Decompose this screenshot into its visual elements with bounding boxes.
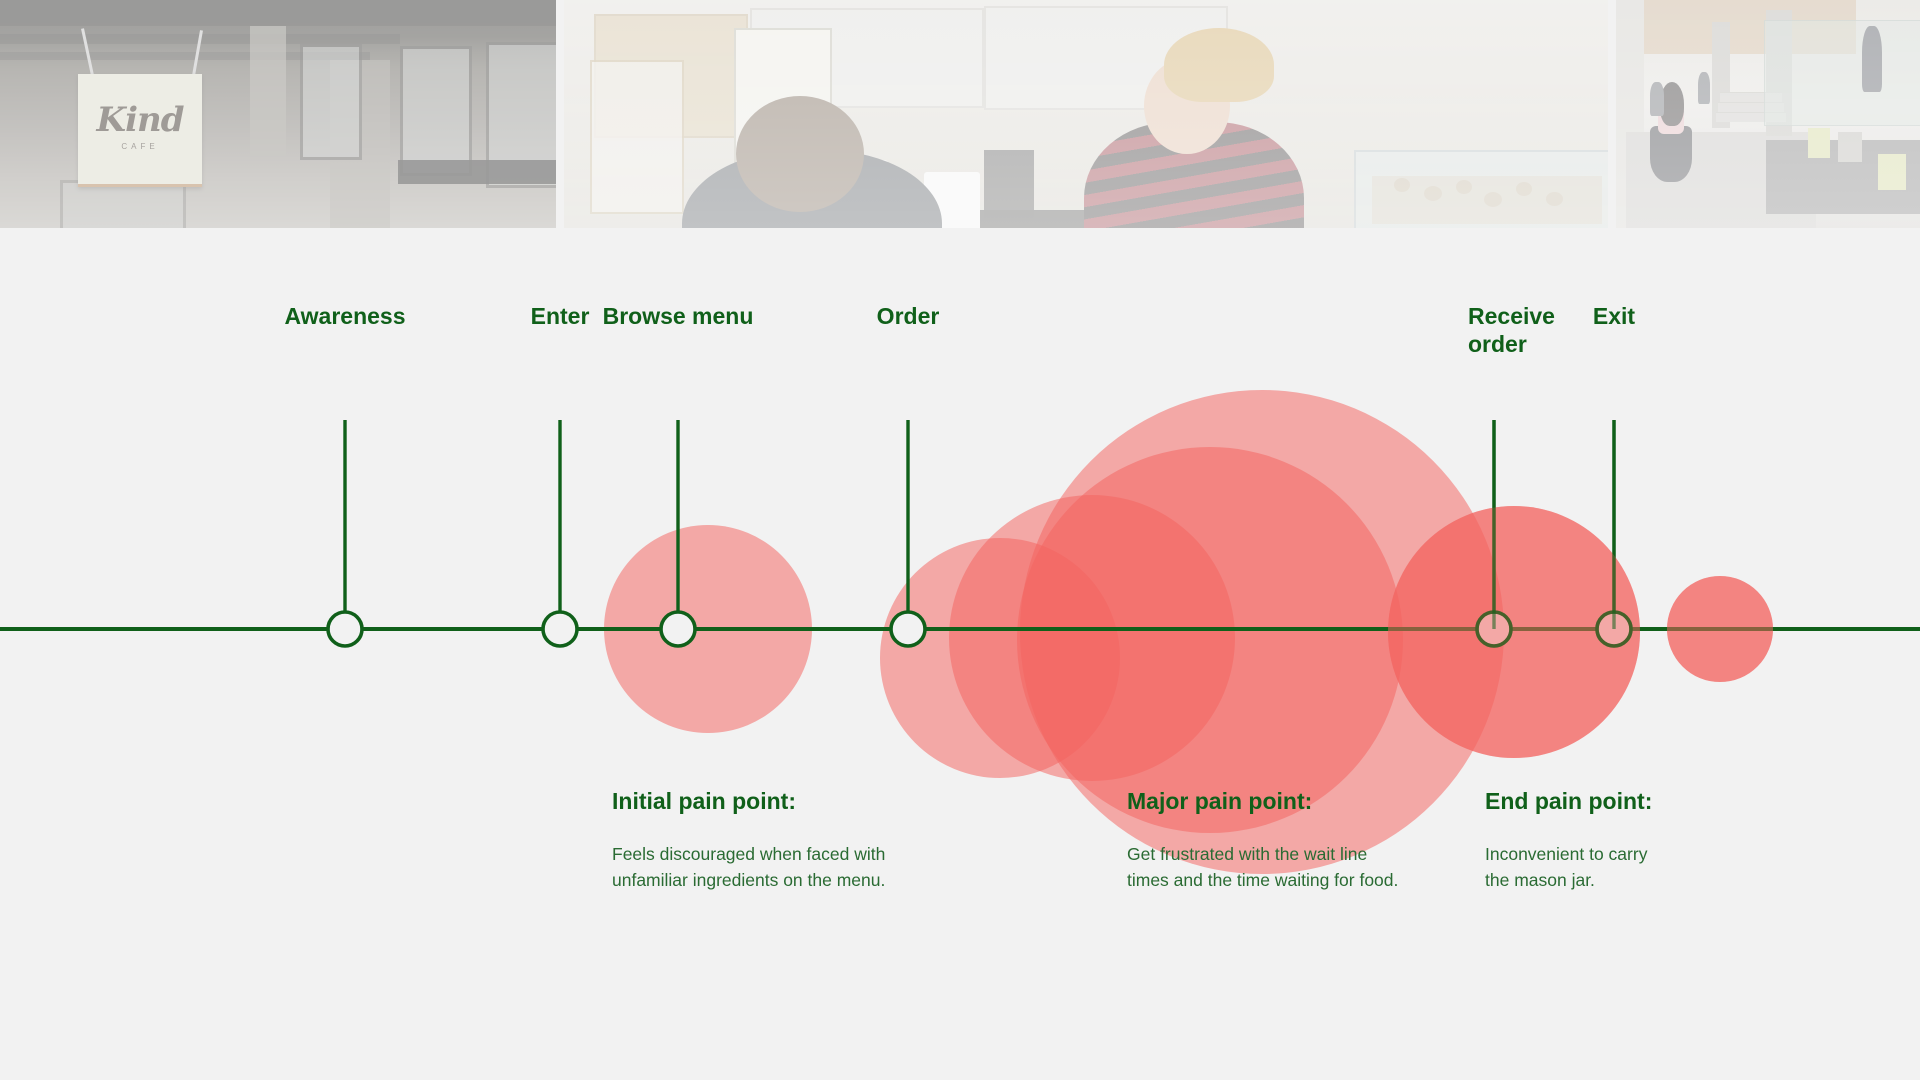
photo-strip: Kind CAFE	[0, 0, 1920, 228]
pain-blob-overlay-layer	[1388, 506, 1773, 758]
stage-node-browse-menu[interactable]	[661, 612, 695, 646]
kind-cafe-sign: Kind CAFE	[78, 74, 202, 187]
photo-gap	[556, 0, 564, 228]
end-pain-point-title: End pain point:	[1485, 788, 1652, 815]
stage-label-exit[interactable]: Exit	[1593, 302, 1635, 330]
initial-pain-point-body: Feels discouraged when faced with unfami…	[612, 841, 885, 893]
end-pain-point-body: Inconvenient to carry the mason jar.	[1485, 841, 1652, 893]
stage-label-receive-order[interactable]: Receive order	[1468, 302, 1555, 358]
stage-label-enter[interactable]: Enter	[531, 302, 590, 330]
initial-pain-point: Initial pain point:Feels discouraged whe…	[612, 788, 885, 893]
stage-node-order[interactable]	[891, 612, 925, 646]
photo-gap	[1608, 0, 1616, 228]
stage-node-enter[interactable]	[543, 612, 577, 646]
photo-corridor-exit	[1616, 0, 1920, 228]
stage-label-awareness[interactable]: Awareness	[284, 302, 405, 330]
stage-label-order[interactable]: Order	[877, 302, 940, 330]
journey-diagram	[0, 228, 1920, 1080]
photo-cafe-exterior-sign: Kind CAFE	[0, 0, 556, 228]
major-pain-point-body: Get frustrated with the wait line times …	[1127, 841, 1398, 893]
stage-node-awareness[interactable]	[328, 612, 362, 646]
major-pain-point: Major pain point:Get frustrated with the…	[1127, 788, 1398, 893]
end-pain-point: End pain point:Inconvenient to carry the…	[1485, 788, 1652, 893]
customer-journey-map: AwarenessEnterBrowse menuOrderReceive or…	[0, 228, 1920, 1080]
photo-counter-ordering	[564, 0, 1608, 228]
pain-blob-overlay-exit	[1667, 576, 1773, 682]
stage-label-browse-menu[interactable]: Browse menu	[603, 302, 754, 330]
sign-wordmark: Kind	[78, 100, 202, 140]
sign-subtext: CAFE	[78, 142, 202, 151]
initial-pain-point-title: Initial pain point:	[612, 788, 885, 815]
major-pain-point-title: Major pain point:	[1127, 788, 1398, 815]
pain-blob-overlay-receive-order	[1388, 506, 1640, 758]
